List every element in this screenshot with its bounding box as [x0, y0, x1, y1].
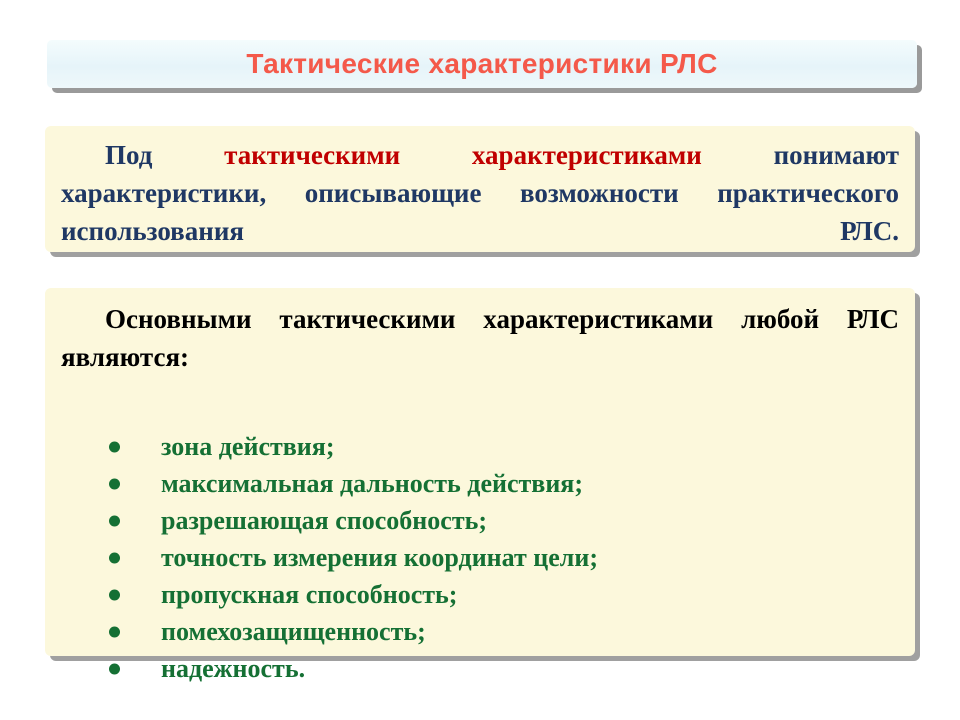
definition-card: Под тактическими характеристиками понима… [45, 126, 915, 252]
bullet-dot-icon [109, 478, 120, 489]
definition-segment-1: Под [105, 140, 224, 170]
definition-paragraph: Под тактическими характеристиками понима… [61, 136, 899, 288]
definition-segment-2: тактическими характеристиками [224, 140, 773, 170]
list-item-label: разрешающая способность; [161, 506, 487, 535]
list-item-label: максимальная дальность действия; [161, 469, 583, 498]
list-item: помехозащищенность; [105, 613, 899, 650]
list-item: зона действия; [105, 428, 899, 465]
page-title: Тактические характеристики РЛС [47, 48, 917, 80]
slide-title-banner: Тактические характеристики РЛС [47, 40, 917, 88]
list-item-label: надежность. [161, 654, 305, 683]
list-item: максимальная дальность действия; [105, 465, 899, 502]
list-item-label: помехозащищенность; [161, 617, 426, 646]
bullet-dot-icon [109, 552, 120, 563]
list-item: надежность. [105, 650, 899, 687]
bullet-dot-icon [109, 441, 120, 452]
bullet-dot-icon [109, 515, 120, 526]
list-item-label: пропускная способность; [161, 580, 457, 609]
bullet-dot-icon [109, 663, 120, 674]
bullet-dot-icon [109, 626, 120, 637]
characteristics-card: Основными тактическими характеристиками … [45, 288, 915, 656]
bullet-dot-icon [109, 589, 120, 600]
list-item: разрешающая способность; [105, 502, 899, 539]
list-item-label: точность измерения координат цели; [161, 543, 598, 572]
list-item: точность измерения координат цели; [105, 539, 899, 576]
list-item-label: зона действия; [161, 432, 335, 461]
characteristics-heading: Основными тактическими характеристиками … [61, 300, 899, 414]
characteristics-list: зона действия; максимальная дальность де… [61, 428, 899, 687]
list-item: пропускная способность; [105, 576, 899, 613]
slide-canvas: Тактические характеристики РЛС Под такти… [0, 0, 960, 720]
